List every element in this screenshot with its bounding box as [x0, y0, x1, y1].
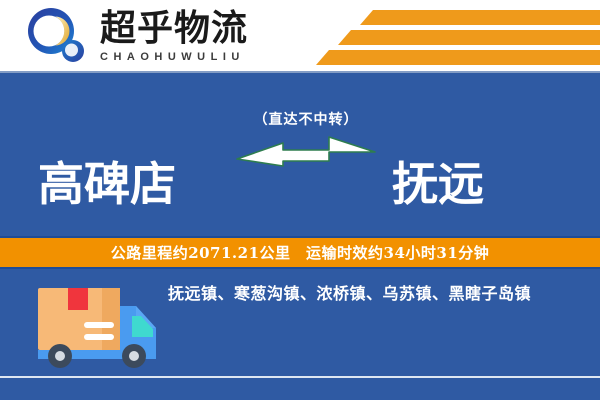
stripe-1	[360, 10, 600, 25]
brand-name-cn: 超乎物流	[100, 9, 248, 47]
route-panel: 高碑店 （直达不中转） 【往返运输】 抚远	[0, 73, 600, 236]
delivery-truck-icon	[32, 276, 164, 368]
route-info-bar: 公路里程约2071.21公里 运输时效约34小时31分钟	[0, 236, 600, 269]
stripe-3	[316, 50, 600, 65]
covered-towns-list: 抚远镇、寒葱沟镇、浓桥镇、乌苏镇、黑瞎子岛镇	[168, 283, 588, 305]
route-info-text: 公路里程约2071.21公里 运输时效约34小时31分钟	[111, 242, 490, 263]
stripe-2	[338, 30, 600, 45]
destination-city: 抚远	[392, 159, 484, 209]
bottom-divider	[0, 376, 600, 378]
brand-logo-group: 超乎物流 CHAOHUWULIU	[26, 7, 248, 65]
route-note-direct: （直达不中转）	[232, 111, 380, 129]
orange-speed-stripes-icon	[310, 6, 600, 68]
brand-text-block: 超乎物流 CHAOHUWULIU	[100, 7, 248, 64]
logistics-route-banner: 超乎物流 CHAOHUWULIU 高碑店 （直达不中转） 【往返运输】 抚远 公…	[0, 0, 600, 400]
banner-header: 超乎物流 CHAOHUWULIU	[0, 0, 600, 73]
circle-crescent-logo-icon	[26, 7, 88, 65]
brand-name-en: CHAOHUWULIU	[100, 50, 248, 64]
coverage-section: 抚远镇、寒葱沟镇、浓桥镇、乌苏镇、黑瞎子岛镇	[0, 269, 600, 400]
route-middle-group: （直达不中转） 【往返运输】	[232, 111, 380, 173]
bidirectional-arrow-icon	[235, 135, 377, 169]
origin-city: 高碑店	[38, 159, 176, 209]
